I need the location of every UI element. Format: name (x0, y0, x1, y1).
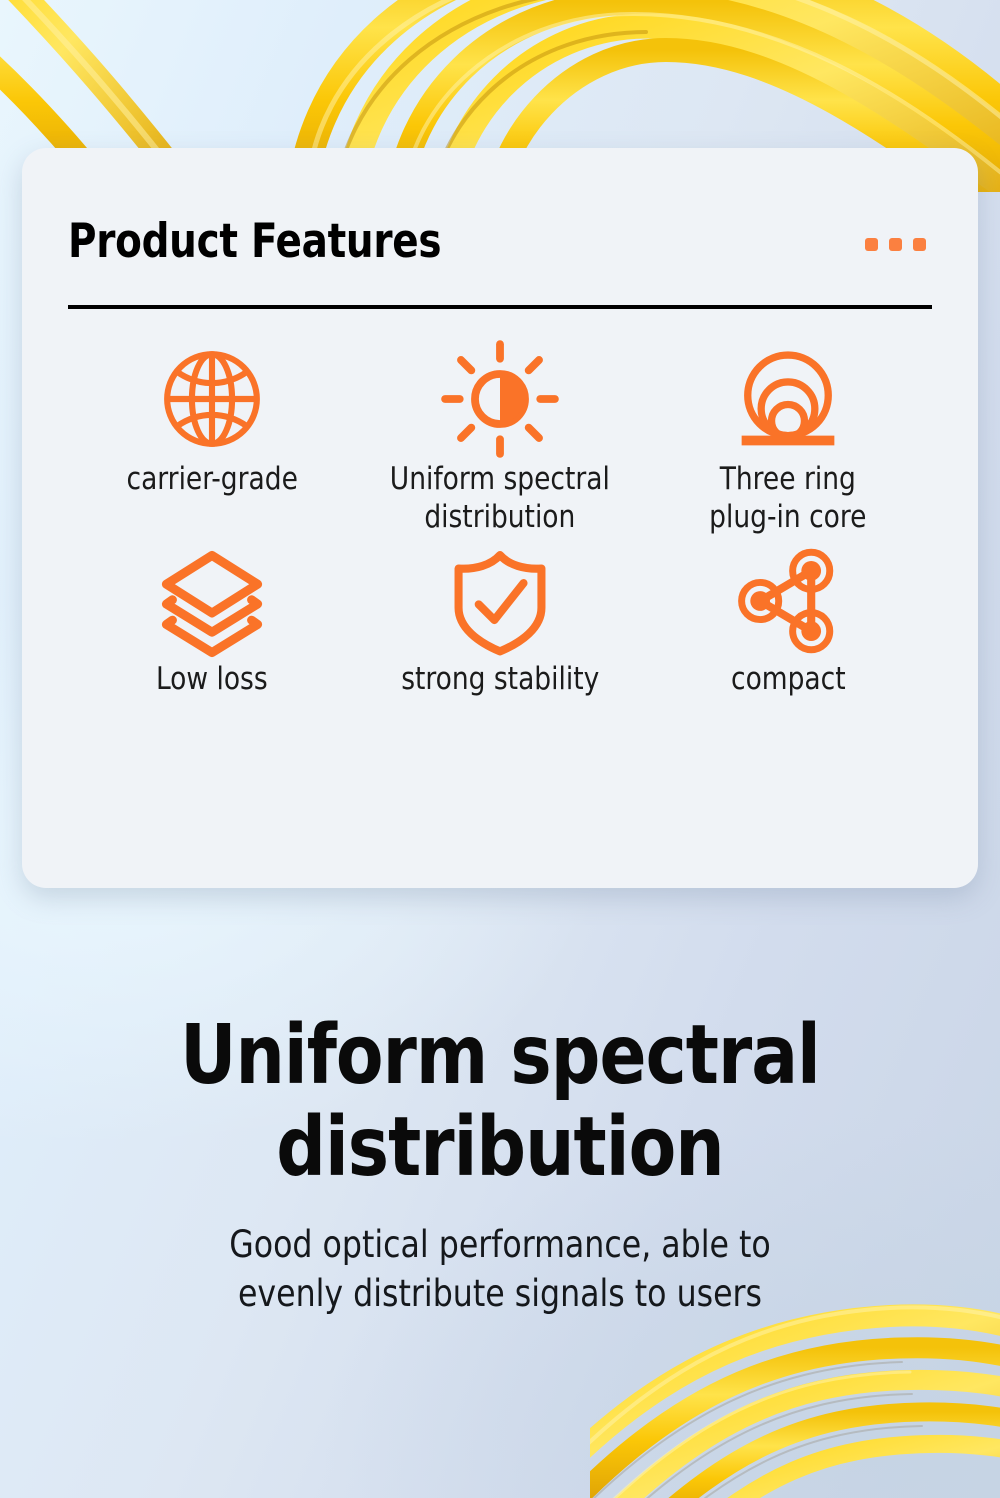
card-header: Product Features (68, 148, 932, 265)
layers-icon (152, 547, 272, 655)
dot-3 (913, 238, 926, 251)
feature-label: carrier-grade (126, 461, 297, 499)
hero-subtitle-line-1: Good optical performance, able to (229, 1223, 771, 1266)
feature-item-three-ring-plug-in-core[interactable]: Three ringplug-in core (644, 343, 932, 537)
shield-check-icon (444, 547, 556, 655)
three-dots-icon[interactable] (865, 238, 926, 251)
hero-heading-line-1: Uniform spectral (180, 1008, 820, 1103)
network-nodes-icon (730, 547, 846, 655)
product-feature-page: Product Features (0, 0, 1000, 1498)
header-divider (68, 305, 932, 309)
feature-label: Uniform spectraldistribution (390, 461, 610, 537)
feature-item-low-loss[interactable]: Low loss (68, 547, 356, 699)
hero-heading-line-2: distribution (276, 1100, 723, 1195)
three-ring-icon (727, 343, 849, 455)
globe-icon (153, 343, 271, 455)
feature-item-uniform-spectral-distribution[interactable]: Uniform spectraldistribution (356, 343, 644, 537)
dot-2 (889, 238, 902, 251)
page-title: Product Features (68, 218, 441, 265)
dot-1 (865, 238, 878, 251)
hero-heading: Uniform spectral distribution (68, 1010, 933, 1194)
feature-item-strong-stability[interactable]: strong stability (356, 547, 644, 699)
feature-item-carrier-grade[interactable]: carrier-grade (68, 343, 356, 537)
hero-subtitle: Good optical performance, able to evenly… (63, 1220, 937, 1318)
feature-label: Low loss (156, 661, 268, 699)
feature-label: strong stability (401, 661, 599, 699)
hero-subtitle-line-2: evenly distribute signals to users (238, 1272, 762, 1315)
feature-label: compact (731, 661, 846, 699)
product-features-card: Product Features (22, 148, 978, 888)
feature-item-compact[interactable]: compact (644, 547, 932, 699)
brightness-icon (439, 343, 561, 455)
features-grid: carrier-grade (68, 343, 932, 698)
hero-section: Uniform spectral distribution Good optic… (0, 1010, 1000, 1318)
feature-label: Three ringplug-in core (709, 461, 866, 537)
